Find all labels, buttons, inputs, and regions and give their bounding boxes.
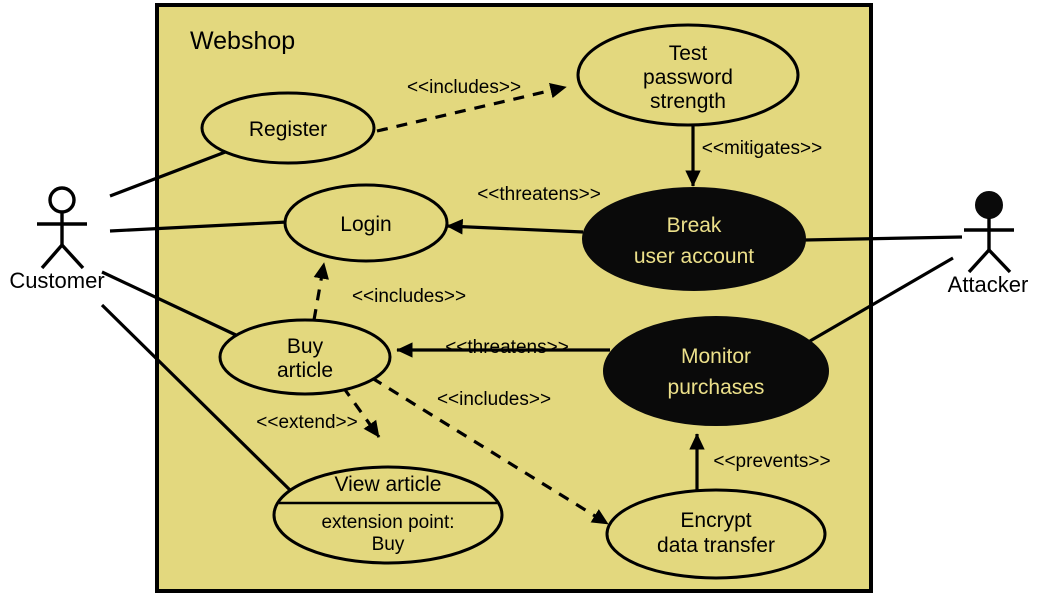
label-includes-buy-login: <<includes>> (352, 286, 466, 307)
label-mitigates-testpw-break: <<mitigates>> (702, 138, 822, 159)
system-boundary-label: Webshop (190, 27, 295, 55)
misuse-case-monitor-purchases[interactable]: Monitor purchases (604, 317, 828, 425)
actor-customer-leg-right (62, 245, 83, 268)
label-includes-buy-encrypt: <<includes>> (437, 389, 551, 410)
actor-attacker-leg-left (969, 250, 989, 272)
actor-attacker-label: Attacker (948, 272, 1029, 297)
misuse-case-break-user-account-label-line1: Break (667, 214, 722, 237)
use-case-register-label: Register (249, 118, 327, 141)
use-case-view-article-extension-point-line1: extension point: (321, 512, 454, 533)
actor-attacker-head-icon (976, 192, 1002, 218)
actor-attacker[interactable]: Attacker (948, 192, 1029, 297)
use-case-buy-article-label-line2: article (277, 359, 333, 382)
use-case-register[interactable]: Register (202, 93, 374, 163)
misuse-case-break-user-account[interactable]: Break user account (583, 188, 805, 290)
use-case-login-label: Login (340, 213, 391, 236)
actor-customer-head-icon (50, 188, 74, 212)
uml-use-case-diagram: Webshop Test password strength --> Break… (0, 0, 1040, 600)
actor-customer-label: Customer (9, 268, 104, 293)
label-threatens-break-login: <<threatens>> (477, 184, 601, 205)
misuse-case-monitor-purchases-label-line1: Monitor (681, 345, 751, 368)
actor-customer[interactable]: Customer (9, 188, 104, 293)
label-extend-buy-view: <<extend>> (256, 412, 357, 433)
misuse-case-monitor-purchases-label-line2: purchases (668, 376, 765, 399)
label-includes-register-testpw: <<includes>> (407, 77, 521, 98)
use-case-view-article[interactable]: View article extension point: Buy (274, 467, 502, 563)
use-case-encrypt-data-transfer-label-line1: Encrypt (680, 509, 751, 532)
misuse-case-break-user-account-label-line2: user account (634, 245, 754, 268)
use-case-view-article-label: View article (335, 473, 442, 496)
use-case-encrypt-data-transfer[interactable]: Encrypt data transfer (607, 490, 825, 578)
use-case-encrypt-data-transfer-label-line2: data transfer (657, 534, 775, 557)
misuse-case-break-user-account-shape[interactable] (583, 188, 805, 290)
label-prevents-encrypt-monitor: <<prevents>> (713, 451, 830, 472)
use-case-buy-article[interactable]: Buy article (220, 320, 390, 394)
actor-attacker-leg-right (989, 250, 1010, 272)
use-case-view-article-extension-point-line2: Buy (372, 534, 405, 555)
label-threatens-monitor-buy: <<threatens>> (445, 337, 569, 358)
use-case-test-password-strength[interactable]: Test password strength (578, 25, 798, 125)
misuse-case-monitor-purchases-shape[interactable] (604, 317, 828, 425)
actor-customer-leg-left (42, 245, 62, 268)
use-case-test-password-strength-label-line3: strength (650, 90, 726, 113)
use-case-test-password-strength-label-line2: password (643, 66, 733, 89)
use-case-login[interactable]: Login (285, 185, 447, 261)
use-case-test-password-strength-label-line1: Test (669, 42, 708, 65)
diagram-canvas: Webshop Test password strength --> Break… (0, 0, 1040, 600)
use-case-buy-article-label-line1: Buy (287, 335, 324, 358)
